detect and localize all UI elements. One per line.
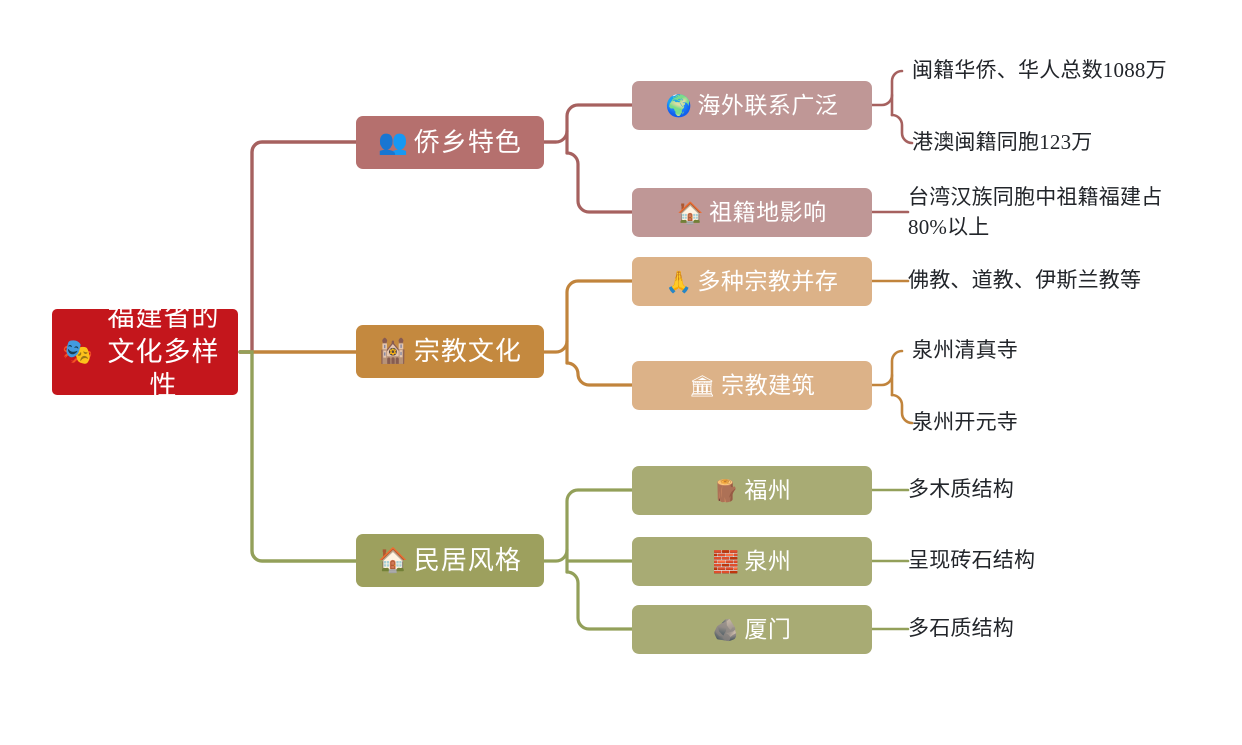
link-branch2-children: [544, 281, 632, 385]
leaf-item: 佛教、道教、伊斯兰教等: [908, 266, 1208, 296]
link-root-branch3-path: [240, 352, 356, 561]
brick-icon: 🧱: [713, 548, 740, 575]
leaf-item: 多石质结构: [908, 614, 1208, 644]
leaf-item: 闽籍华侨、华人总数1088万: [912, 56, 1212, 86]
leaf-label: 佛教、道教、伊斯兰教等: [908, 266, 1141, 296]
classical-building-icon: 🏛: [689, 372, 716, 399]
sub-node-label: 泉州: [744, 547, 791, 576]
leaf-label: 泉州清真寺: [912, 336, 1018, 366]
rock-icon: 🪨: [713, 616, 740, 643]
sub-node-zujidi[interactable]: 🏠祖籍地影响: [632, 188, 872, 237]
link-branch1-children: [544, 105, 632, 212]
root-node-label: 福建省的 文化多样性: [99, 300, 228, 404]
leaf-item: 港澳闽籍同胞123万: [912, 128, 1212, 158]
sub-node-quanzhou[interactable]: 🧱泉州: [632, 537, 872, 586]
leaf-label: 闽籍华侨、华人总数1088万: [912, 56, 1167, 86]
wood-icon: 🪵: [713, 477, 740, 504]
branch-node-zongjiao[interactable]: 🕍宗教文化: [356, 325, 544, 378]
leaf-label: 多木质结构: [908, 475, 1014, 505]
branch-node-label: 民居风格: [414, 544, 522, 577]
branch-node-qiaoxiang[interactable]: 👥侨乡特色: [356, 116, 544, 169]
sub-node-label: 海外联系广泛: [697, 91, 838, 120]
leaf-label: 台湾汉族同胞中祖籍福建占 80%以上: [908, 183, 1162, 243]
link-root-branch1-path: [240, 142, 356, 352]
folded-hands-icon: 🙏: [666, 268, 693, 295]
leaf-item: 多木质结构: [908, 475, 1208, 505]
sub-node-label: 多种宗教并存: [697, 267, 838, 296]
sub-node-haiwai[interactable]: 🌍海外联系广泛: [632, 81, 872, 130]
sub-node-xiamen[interactable]: 🪨厦门: [632, 605, 872, 654]
leaf-item: 泉州开元寺: [912, 408, 1212, 438]
globe-icon: 🌍: [666, 92, 693, 119]
branch-node-label: 侨乡特色: [414, 126, 522, 159]
house-icon: 🏠: [378, 545, 409, 576]
branch-node-label: 宗教文化: [414, 335, 522, 368]
synagogue-icon: 🕍: [378, 336, 409, 367]
performing-arts-icon: 🎭: [62, 336, 94, 368]
leaf-item: 台湾汉族同胞中祖籍福建占 80%以上: [908, 182, 1198, 244]
house-icon: 🏠: [677, 199, 704, 226]
sub-node-fuzhou[interactable]: 🪵福州: [632, 466, 872, 515]
sub-node-label: 厦门: [744, 615, 791, 644]
leaf-label: 呈现砖石结构: [908, 546, 1035, 576]
sub-node-label: 宗教建筑: [721, 371, 815, 400]
busts-in-silhouette-icon: 👥: [378, 127, 409, 158]
link-branch3-children: [544, 490, 632, 629]
leaf-item: 呈现砖石结构: [908, 546, 1208, 576]
leaf-label: 港澳闽籍同胞123万: [912, 128, 1093, 158]
branch-node-minju[interactable]: 🏠民居风格: [356, 534, 544, 587]
sub-node-label: 祖籍地影响: [709, 198, 827, 227]
link-jianzhu-leaves: [872, 351, 912, 423]
sub-node-jianzhu[interactable]: 🏛宗教建筑: [632, 361, 872, 410]
root-node[interactable]: 🎭福建省的 文化多样性: [52, 309, 238, 395]
leaf-label: 多石质结构: [908, 614, 1014, 644]
leaf-item: 泉州清真寺: [912, 336, 1212, 366]
sub-node-label: 福州: [744, 476, 791, 505]
sub-node-duozhong[interactable]: 🙏多种宗教并存: [632, 257, 872, 306]
leaf-label: 泉州开元寺: [912, 408, 1018, 438]
link-haiwai-leaves: [872, 71, 912, 143]
mindmap-canvas: 🎭福建省的 文化多样性 👥侨乡特色 🌍海外联系广泛 🏠祖籍地影响 闽籍华侨、华人…: [0, 0, 1242, 745]
